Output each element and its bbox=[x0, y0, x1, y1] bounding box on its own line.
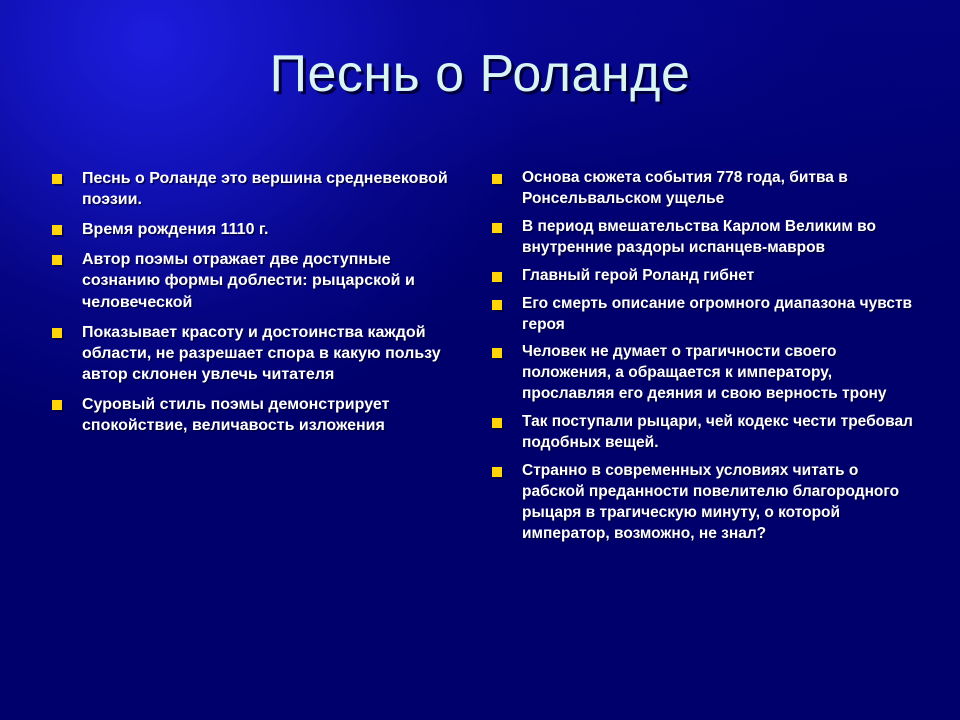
square-bullet-icon bbox=[52, 328, 62, 338]
square-bullet-icon bbox=[52, 255, 62, 265]
list-item-text: Показывает красоту и достоинства каждой … bbox=[82, 322, 452, 385]
list-item-text: В период вмешательства Карлом Великим во… bbox=[522, 217, 922, 259]
list-item-text: Основа сюжета события 778 года, битва в … bbox=[522, 168, 922, 210]
list-item: Время рождения 1110 г. bbox=[52, 219, 452, 240]
square-bullet-icon bbox=[492, 300, 502, 310]
list-item-text: Странно в современных условиях читать о … bbox=[522, 461, 922, 545]
list-item: Его смерть описание огромного диапазона … bbox=[492, 294, 922, 336]
presentation-slide: Песнь о Роланде Песнь о Роланде это верш… bbox=[0, 0, 960, 720]
square-bullet-icon bbox=[492, 467, 502, 477]
list-item: В период вмешательства Карлом Великим во… bbox=[492, 217, 922, 259]
list-item-text: Человек не думает о трагичности своего п… bbox=[522, 342, 922, 405]
slide-title: Песнь о Роланде bbox=[0, 46, 960, 102]
list-item-text: Автор поэмы отражает две доступные созна… bbox=[82, 249, 452, 312]
square-bullet-icon bbox=[492, 418, 502, 428]
square-bullet-icon bbox=[492, 174, 502, 184]
square-bullet-icon bbox=[52, 174, 62, 184]
list-item: Основа сюжета события 778 года, битва в … bbox=[492, 168, 922, 210]
list-item-text: Его смерть описание огромного диапазона … bbox=[522, 294, 922, 336]
square-bullet-icon bbox=[492, 272, 502, 282]
list-item: Автор поэмы отражает две доступные созна… bbox=[52, 249, 452, 312]
list-item: Суровый стиль поэмы демонстрирует спокой… bbox=[52, 394, 452, 436]
square-bullet-icon bbox=[52, 400, 62, 410]
list-item: Человек не думает о трагичности своего п… bbox=[492, 342, 922, 405]
list-item-text: Время рождения 1110 г. bbox=[82, 219, 452, 240]
bullet-column-left: Песнь о Роланде это вершина средневеково… bbox=[52, 168, 452, 445]
list-item-text: Песнь о Роланде это вершина средневеково… bbox=[82, 168, 452, 210]
slide-body: Песнь о Роланде это вершина средневеково… bbox=[0, 168, 960, 668]
square-bullet-icon bbox=[492, 223, 502, 233]
list-item-text: Так поступали рыцари, чей кодекс чести т… bbox=[522, 412, 922, 454]
list-item: Показывает красоту и достоинства каждой … bbox=[52, 322, 452, 385]
list-item: Так поступали рыцари, чей кодекс чести т… bbox=[492, 412, 922, 454]
list-item-text: Суровый стиль поэмы демонстрирует спокой… bbox=[82, 394, 452, 436]
square-bullet-icon bbox=[52, 225, 62, 235]
list-item: Странно в современных условиях читать о … bbox=[492, 461, 922, 545]
list-item-text: Главный герой Роланд гибнет bbox=[522, 266, 922, 287]
list-item: Песнь о Роланде это вершина средневеково… bbox=[52, 168, 452, 210]
list-item: Главный герой Роланд гибнет bbox=[492, 266, 922, 287]
square-bullet-icon bbox=[492, 348, 502, 358]
bullet-column-right: Основа сюжета события 778 года, битва в … bbox=[492, 168, 922, 552]
